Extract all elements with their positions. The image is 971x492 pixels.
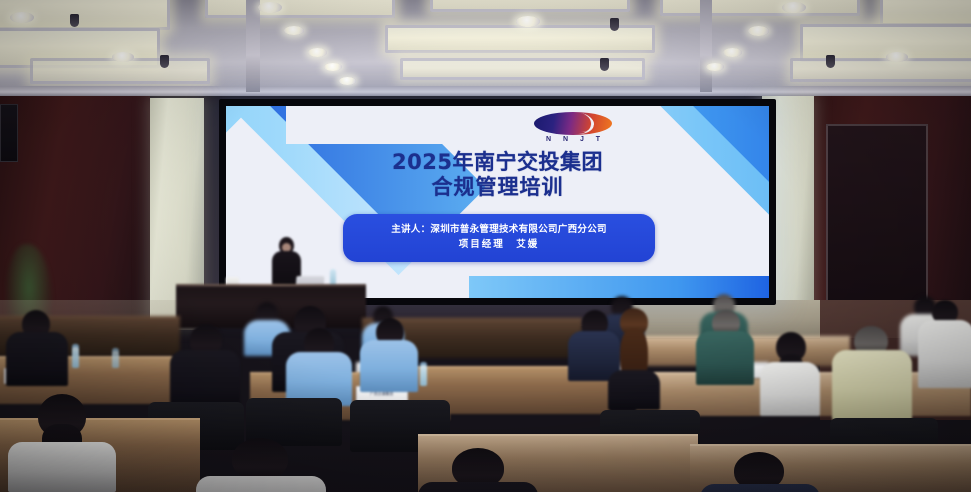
person-torso [760, 362, 820, 416]
ceiling-spotlight [826, 55, 835, 68]
downlight [748, 26, 769, 36]
downlight [706, 63, 724, 71]
downlight [723, 48, 742, 57]
placard-text: 广西交通集团 [370, 391, 393, 397]
downlight [339, 77, 356, 85]
ceiling [0, 0, 971, 100]
audience-member [832, 326, 912, 418]
wall-speaker [0, 104, 18, 162]
projection-screen-bezel: N N J T 2025年南宁交投集团 合规管理培训 主讲人：深圳市普永管理技术… [219, 99, 776, 305]
door-frame [826, 124, 928, 324]
audience-member [170, 324, 240, 402]
ceiling-spotlight [600, 58, 609, 71]
person-torso [170, 350, 240, 408]
person-torso [696, 331, 754, 385]
audience-member [196, 438, 326, 492]
audience-member [6, 310, 68, 380]
ceiling-spotlight [160, 55, 169, 68]
person-torso [832, 350, 912, 420]
audience-member [918, 300, 971, 386]
slide-title-line-2: 合规管理培训 [226, 175, 769, 200]
water-bottle [420, 362, 427, 386]
ceiling-light-panel [880, 0, 971, 26]
slide-title: 2025年南宁交投集团 合规管理培训 [226, 150, 769, 200]
downlight [284, 26, 304, 35]
nnjt-logo: N N J T [532, 112, 614, 150]
speaker-line-1: 主讲人：深圳市普永管理技术有限公司广西分公司 [391, 223, 607, 238]
person-torso [360, 340, 418, 392]
audience-member [8, 394, 116, 492]
person-torso [8, 442, 116, 492]
ceiling-light-panel [205, 0, 395, 18]
ceiling-spotlight [610, 18, 619, 31]
audience-member [760, 332, 820, 412]
ceiling-spotlight [70, 14, 79, 27]
person-torso [6, 332, 68, 386]
water-bottle [112, 348, 119, 368]
person-torso [918, 320, 971, 388]
downlight [258, 2, 282, 13]
slide-title-line-1: 2025年南宁交投集团 [226, 150, 769, 175]
audience-member [608, 308, 660, 404]
audience-member [696, 310, 754, 380]
audience-member [700, 452, 820, 492]
ceiling-beam [700, 0, 712, 92]
downlight [324, 63, 342, 71]
ceiling-beam [0, 86, 971, 96]
ceiling-light-panel [430, 0, 630, 12]
ceiling-light-panel [790, 58, 971, 82]
downlight [112, 52, 134, 62]
person-head [232, 438, 288, 480]
downlight [782, 2, 806, 13]
person-torso [196, 476, 326, 492]
person-torso [608, 370, 660, 410]
downlight [10, 12, 34, 23]
speaker-line-2: 项目经理 艾媛 [459, 238, 540, 253]
nnjt-logo-mark [534, 112, 612, 135]
downlight [308, 48, 327, 57]
slide-speaker-box: 主讲人：深圳市普永管理技术有限公司广西分公司 项目经理 艾媛 [343, 214, 655, 262]
person-torso [700, 484, 820, 492]
logo-letters: N N J T [532, 136, 614, 143]
ceiling-beam [246, 0, 260, 92]
audience-member [418, 448, 538, 492]
audience-member [360, 318, 418, 386]
water-bottle [72, 344, 79, 368]
conference-room-photo: N N J T 2025年南宁交投集团 合规管理培训 主讲人：深圳市普永管理技术… [0, 0, 971, 492]
ceiling-light-panel [660, 0, 860, 16]
downlight [516, 16, 540, 27]
audience-member [286, 328, 352, 400]
person-torso [418, 482, 538, 492]
downlight [886, 52, 908, 62]
projection-screen: N N J T 2025年南宁交投集团 合规管理培训 主讲人：深圳市普永管理技术… [226, 106, 769, 298]
